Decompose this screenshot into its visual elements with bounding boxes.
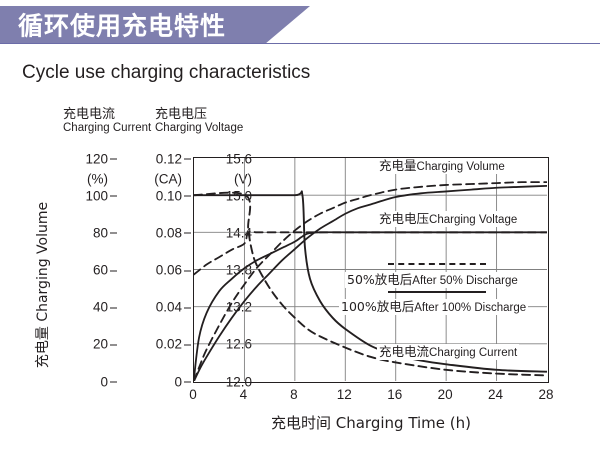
legend-after-50-discharge: 50%放电后After 50% Discharge xyxy=(345,272,520,288)
legend-line-sample-dashed xyxy=(388,263,486,265)
annotation-volume-cn: 充电量 xyxy=(379,158,417,173)
annotation-charging-voltage: 充电电压Charging Voltage xyxy=(377,211,519,227)
tick-label: 0.12 xyxy=(156,151,182,166)
annotation-charging-current: 充电电流Charging Current xyxy=(377,344,519,360)
annotation-volume-en: Charging Volume xyxy=(417,161,505,173)
x-tick-label: 16 xyxy=(387,387,402,402)
legend-50-en: After 50% Discharge xyxy=(412,275,517,287)
annotation-current-cn: 充电电流 xyxy=(379,344,429,359)
chart-series-line xyxy=(194,232,547,275)
tick-label: 0.06 xyxy=(156,263,182,278)
tick-label: 0.02 xyxy=(156,337,182,352)
x-tick-label: 20 xyxy=(438,387,453,402)
tick-label: 0 xyxy=(100,374,108,389)
x-tick-label: 0 xyxy=(189,387,197,402)
x-tick-label: 12 xyxy=(337,387,352,402)
legend-line-sample-solid xyxy=(388,291,486,293)
legend-100-cn: 100%放电后 xyxy=(341,299,414,314)
axis-header-current-en: Charging Current xyxy=(63,122,151,134)
tick-label: 0 xyxy=(174,374,182,389)
axis-header-current-cn: 充电电流 xyxy=(63,108,151,122)
axis-header-voltage-en: Charging Voltage xyxy=(155,122,243,134)
tick-label: 80 xyxy=(93,225,108,240)
x-tick-label: 8 xyxy=(290,387,298,402)
banner-underline xyxy=(0,43,600,44)
tick-label: 20 xyxy=(93,337,108,352)
x-tick-label: 4 xyxy=(240,387,248,402)
annotation-voltage-en: Charging Voltage xyxy=(429,214,517,226)
y-axis-title: 充电量 Charging Volume xyxy=(32,180,52,390)
tick-label: 120 xyxy=(85,151,108,166)
tick-label: 0.08 xyxy=(156,225,182,240)
axis-header-charging-current: 充电电流 Charging Current xyxy=(63,108,151,134)
tick-label: 40 xyxy=(93,300,108,315)
legend-after-100-discharge: 100%放电后After 100% Discharge xyxy=(339,299,528,315)
annotation-voltage-cn: 充电电压 xyxy=(379,211,429,226)
annotation-charging-volume: 充电量Charging Volume xyxy=(377,158,507,174)
x-tick-label: 24 xyxy=(488,387,503,402)
axis-unit-label: (%) xyxy=(87,171,108,186)
axis-header-charging-voltage: 充电电压 Charging Voltage xyxy=(155,108,243,134)
banner-title: 循环使用充电特性 xyxy=(18,6,226,42)
tick-label: 0.04 xyxy=(156,300,182,315)
axis-header-voltage-cn: 充电电压 xyxy=(155,108,243,122)
header-banner: 循环使用充电特性 xyxy=(0,6,310,44)
tick-label: 100 xyxy=(85,188,108,203)
legend-50-cn: 50%放电后 xyxy=(347,272,412,287)
tick-label: 0.10 xyxy=(156,188,182,203)
axis-unit-label: (CA) xyxy=(154,171,182,186)
x-axis-title: 充电时间 Charging Time (h) xyxy=(193,412,549,433)
page-subtitle: Cycle use charging characteristics xyxy=(22,62,310,84)
annotation-current-en: Charging Current xyxy=(429,347,517,359)
tick-label: 60 xyxy=(93,263,108,278)
x-tick-label: 28 xyxy=(538,387,553,402)
legend-100-en: After 100% Discharge xyxy=(414,302,526,314)
